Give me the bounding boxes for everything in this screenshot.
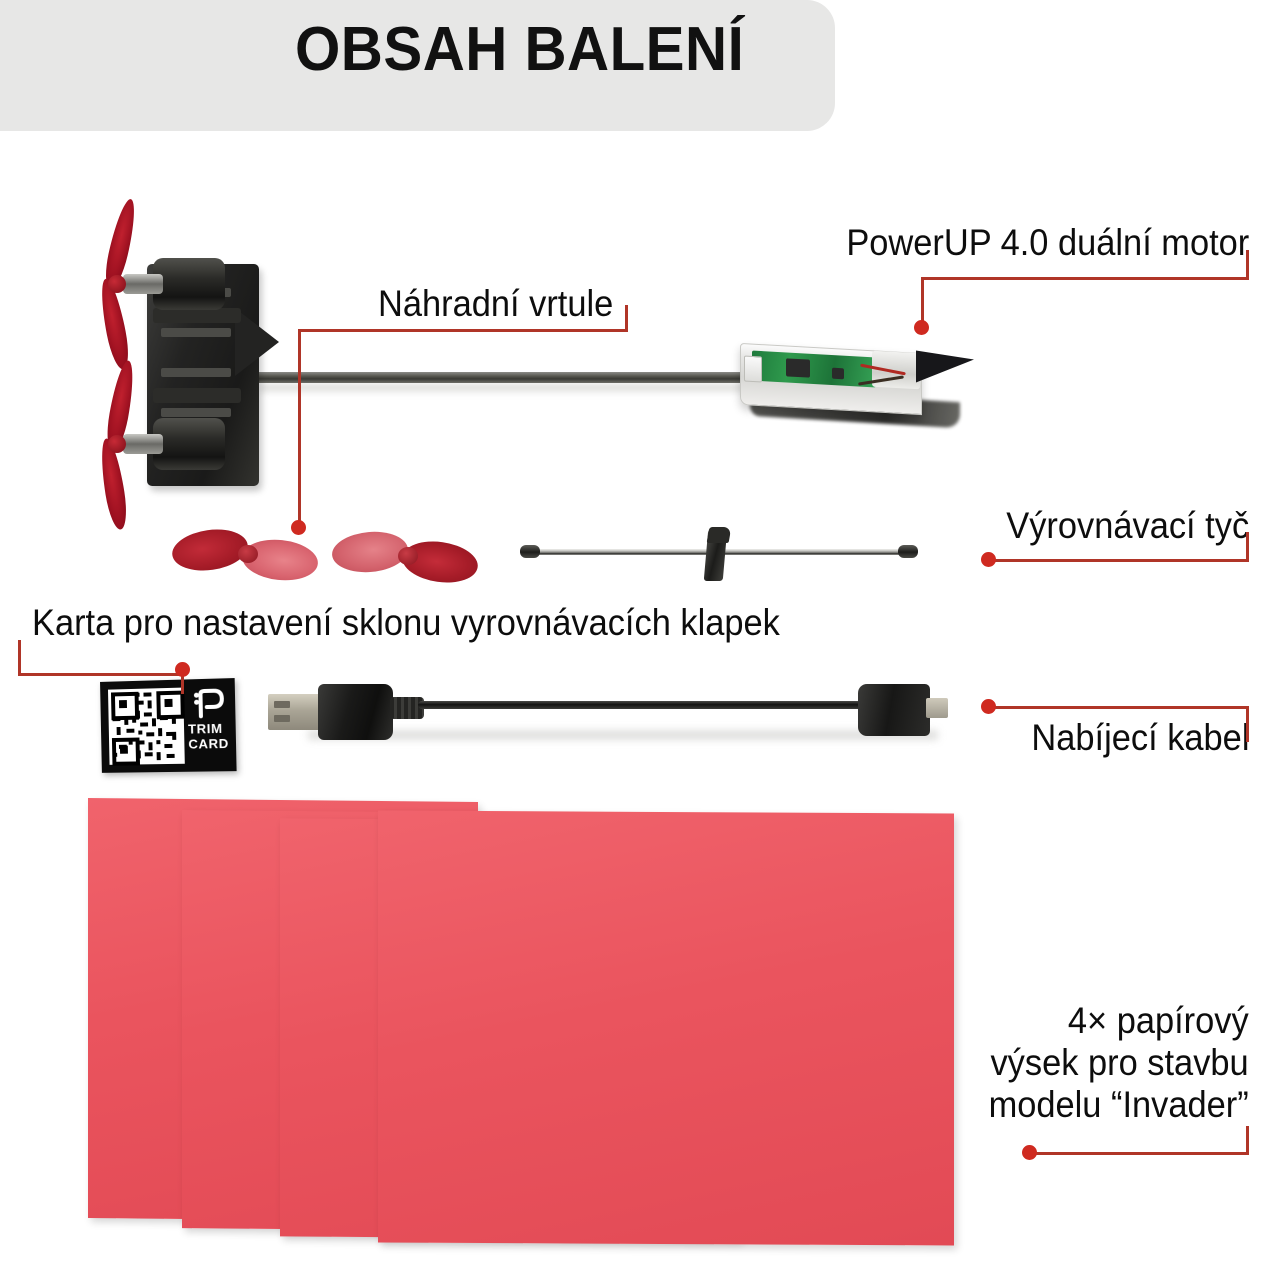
leader-dot-cable [981, 699, 996, 714]
paper-label-line-3: modelu “Invader” [989, 1084, 1249, 1126]
leader-line-cable-v [1246, 706, 1249, 742]
balance-rod [520, 527, 920, 585]
micro-usb-connector-tip [926, 698, 948, 718]
trim-card-line-2: CARD [188, 736, 229, 752]
trim-card-text: TRIM CARD [188, 721, 229, 753]
balance-rod-clip-top [707, 527, 732, 543]
leader-line-trim-v-left [18, 640, 21, 676]
motor-can-bottom [153, 418, 225, 470]
mount-taper [235, 308, 279, 376]
leader-dot-paper [1022, 1145, 1037, 1160]
usb-cable-shadow [308, 730, 938, 740]
trim-card-line-1: TRIM [188, 721, 229, 737]
leader-line-trim-h [18, 673, 184, 676]
motor-can-top [153, 258, 225, 310]
leader-dot-powerup [914, 320, 929, 335]
mount-ledge [153, 388, 241, 403]
leader-line-props-v-down [298, 329, 301, 528]
powerup-switch [744, 355, 762, 382]
page-title: OBSAH BALENÍ [295, 14, 744, 85]
usb-a-connector-body [318, 684, 393, 740]
packaging-contents-infographic: OBSAH BALENÍ [0, 0, 1267, 1267]
spare-propeller-2 [332, 530, 482, 586]
mount-rib [161, 328, 231, 337]
propeller-hub-top [108, 275, 126, 293]
propeller-hub-bottom [108, 435, 126, 453]
mount-ledge [153, 308, 241, 323]
callout-label-balance-rod: Výrovnávací tyč [1006, 505, 1249, 547]
mount-rib [161, 408, 231, 417]
motor-shaft-bottom [123, 434, 163, 454]
motor-shaft-top [123, 274, 163, 294]
leader-dot-trim [175, 662, 190, 677]
balance-rod-cap-left [520, 545, 540, 558]
leader-line-powerup-h [921, 277, 1249, 280]
powerup-p-logo-icon [191, 688, 226, 719]
qr-code [108, 688, 185, 765]
balance-rod-cap-right [898, 545, 918, 558]
spare-propeller-1 [172, 528, 322, 584]
powerup-nose-cone [916, 350, 974, 385]
leader-dot-rod [981, 552, 996, 567]
leader-line-rod-h [988, 559, 1249, 562]
trim-card: TRIM CARD [100, 678, 237, 773]
leader-line-cable-h [988, 706, 1249, 709]
callout-label-trim-card: Karta pro nastavení sklonu vyrovnávacích… [32, 602, 780, 644]
mount-rib [161, 368, 231, 377]
leader-line-rod-v [1246, 532, 1249, 562]
leader-line-props-h [298, 329, 628, 332]
callout-label-paper-sheets: 4× papírový výsek pro stavbu modelu “Inv… [989, 1000, 1249, 1125]
callout-label-spare-propellers: Náhradní vrtule [378, 283, 613, 325]
micro-usb-connector-body [858, 684, 930, 736]
paper-label-line-2: výsek pro stavbu [989, 1042, 1249, 1084]
leader-dot-props [291, 520, 306, 535]
spare-prop-hub [238, 545, 258, 563]
leader-line-powerup-v-right [1246, 250, 1249, 280]
spare-prop-hub [398, 547, 418, 565]
callout-label-powerup-motor: PowerUP 4.0 duální motor [846, 222, 1249, 264]
powerup-chip [786, 358, 810, 377]
leader-line-paper-v [1246, 1126, 1249, 1155]
usb-charging-cable [268, 672, 948, 742]
leader-line-paper-h [1029, 1152, 1249, 1155]
leader-line-props-v-right [625, 305, 628, 330]
powerup-module [740, 330, 990, 440]
usb-a-connector-metal [268, 694, 322, 730]
callout-label-charging-cable: Nabíjecí kabel [1031, 717, 1249, 759]
powerup-chip-small [832, 368, 844, 380]
paper-label-line-1: 4× papírový [989, 1000, 1249, 1042]
paper-sheet-1 [378, 810, 954, 1245]
qr-finder-tr [156, 691, 185, 720]
